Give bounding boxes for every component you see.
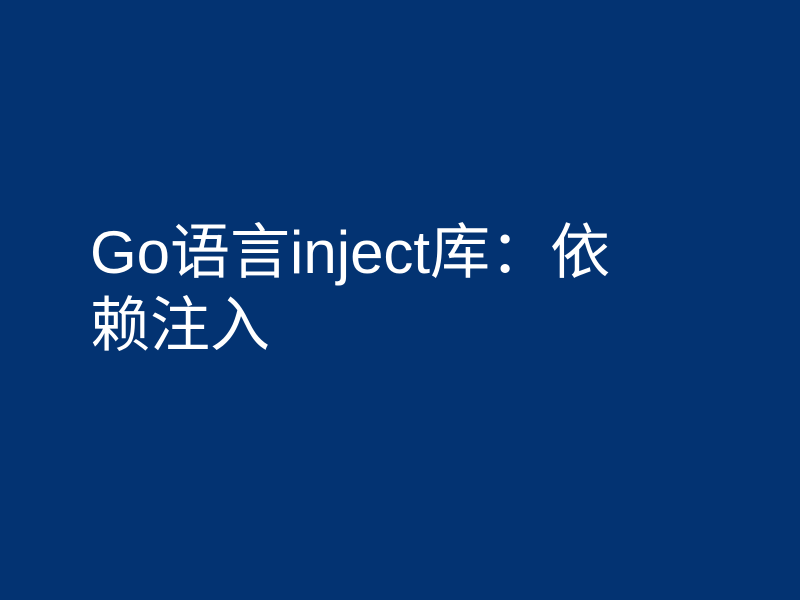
title-block: Go语言inject库：依赖注入 bbox=[90, 216, 642, 362]
page-title: Go语言inject库：依赖注入 bbox=[90, 216, 642, 362]
title-slide: Go语言inject库：依赖注入 bbox=[0, 0, 800, 600]
